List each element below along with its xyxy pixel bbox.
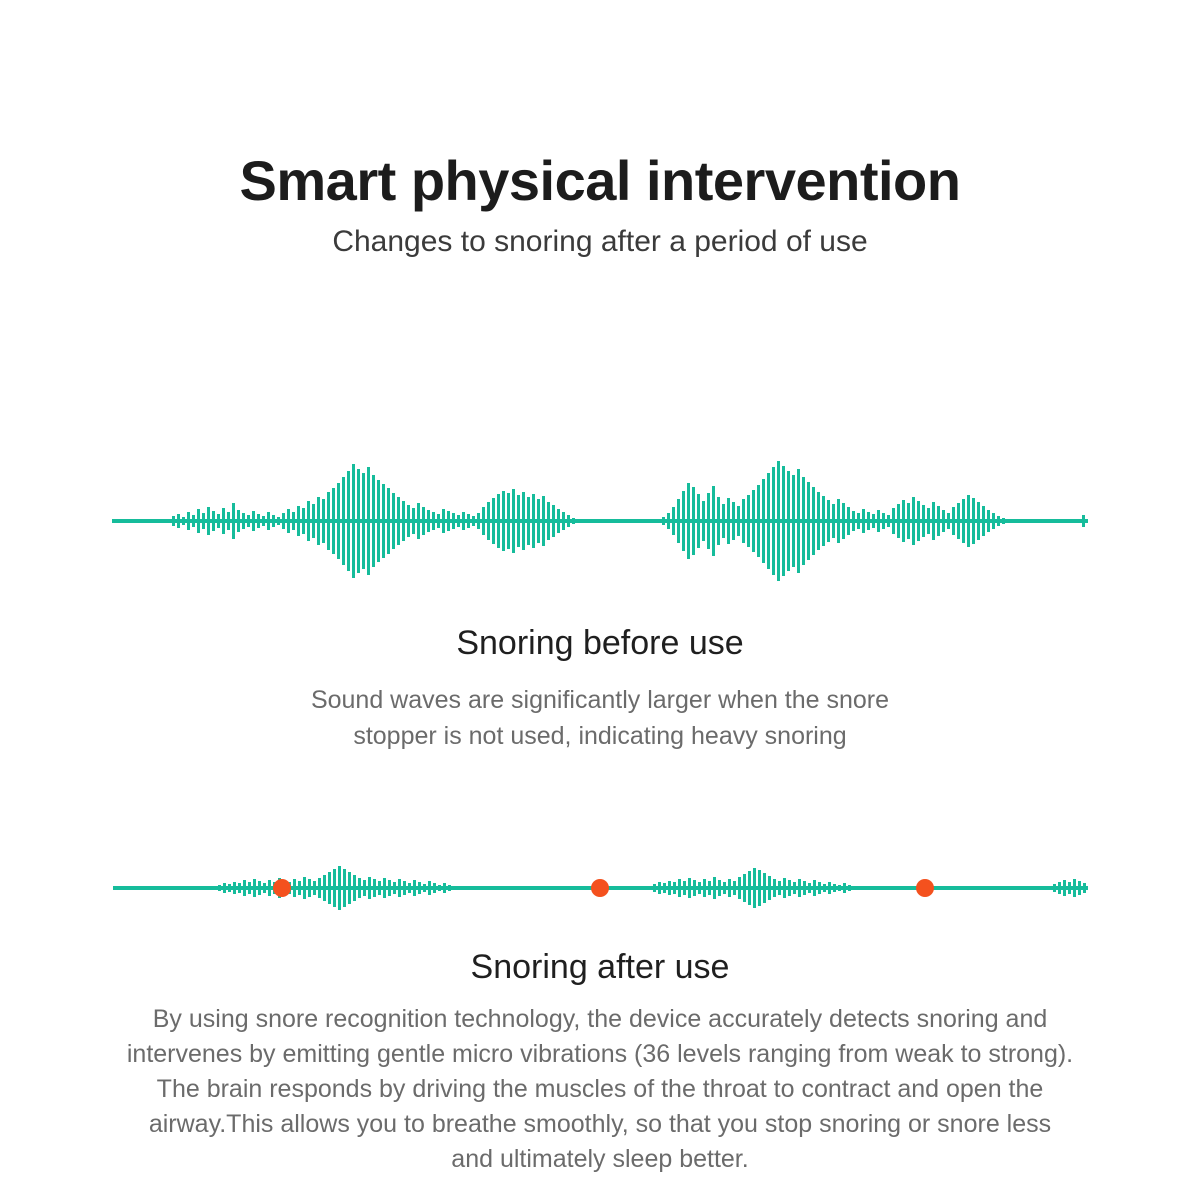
snoring-after-heading: Snoring after use <box>0 944 1200 990</box>
page-subtitle: Changes to snoring after a period of use <box>0 222 1200 262</box>
snoring-after-caption: Snoring after use By using snore recogni… <box>0 944 1200 1177</box>
snoring-before-waveform <box>0 430 1200 615</box>
snoring-before-caption: Snoring before use Sound waves are signi… <box>0 620 1200 754</box>
snore-detection-marker <box>591 879 609 897</box>
page-root: Smart physical intervention Changes to s… <box>0 0 1200 1200</box>
snore-detection-marker <box>916 879 934 897</box>
snoring-before-waveform-container <box>0 430 1200 615</box>
page-title: Smart physical intervention <box>0 148 1200 214</box>
snoring-after-waveform <box>0 838 1200 928</box>
snoring-before-heading: Snoring before use <box>0 620 1200 666</box>
snoring-before-body: Sound waves are significantly larger whe… <box>0 682 1200 754</box>
snore-detection-marker <box>273 879 291 897</box>
snoring-after-waveform-container <box>0 838 1200 928</box>
header: Smart physical intervention Changes to s… <box>0 148 1200 262</box>
snoring-after-body: By using snore recognition technology, t… <box>0 1002 1200 1177</box>
